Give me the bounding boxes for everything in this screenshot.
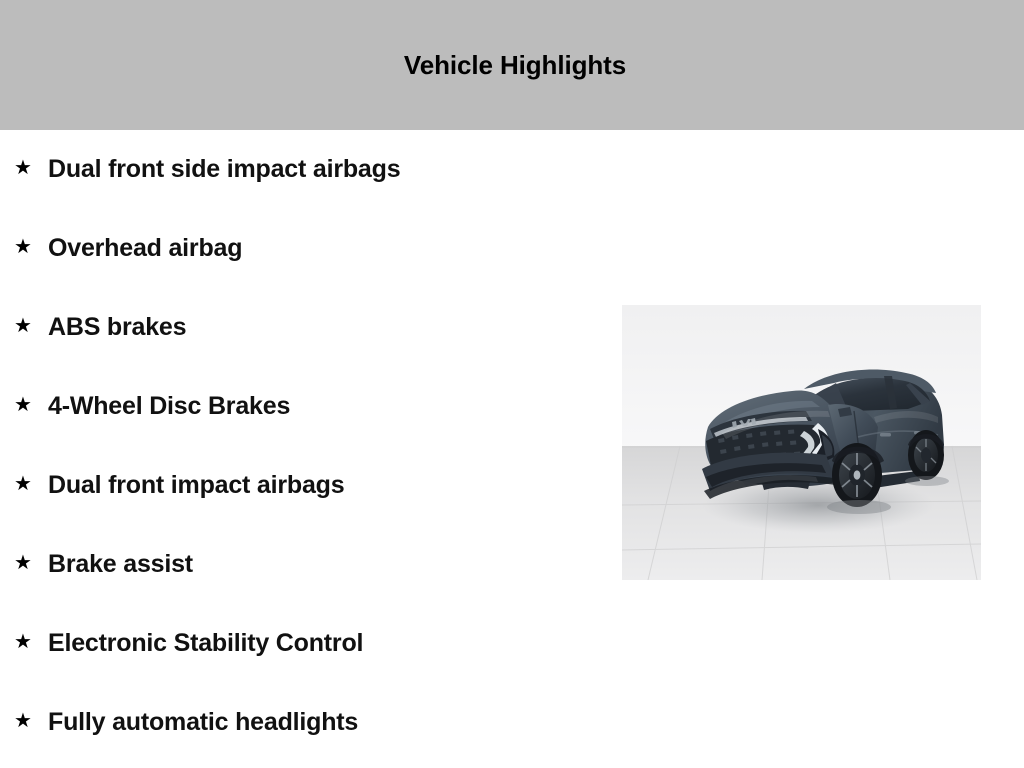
star-bullet-icon: ★ [14,553,48,573]
page-header: Vehicle Highlights [0,0,1024,130]
vehicle-highlights-page: Vehicle Highlights ★ Dual front side imp… [0,0,1024,768]
star-bullet-icon: ★ [14,632,48,652]
highlight-label: Dual front impact airbags [48,471,620,500]
highlight-label: Electronic Stability Control [48,629,620,658]
list-item: ★ 4-Wheel Disc Brakes [0,367,620,446]
star-bullet-icon: ★ [14,316,48,336]
highlight-label: Overhead airbag [48,234,620,263]
list-item: ★ Electronic Stability Control [0,604,620,683]
list-item: ★ Fully automatic headlights [0,683,620,762]
star-bullet-icon: ★ [14,237,48,257]
star-bullet-icon: ★ [14,158,48,178]
list-item: ★ Dual front impact airbags [0,446,620,525]
vehicle-photo [622,305,981,580]
vehicle-highlights-list: ★ Dual front side impact airbags ★ Overh… [0,130,620,762]
vehicle-photo-image [622,305,981,580]
star-bullet-icon: ★ [14,395,48,415]
highlight-label: Fully automatic headlights [48,708,620,737]
highlight-label: Brake assist [48,550,620,579]
list-item: ★ Brake assist [0,525,620,604]
list-item: ★ Overhead airbag [0,209,620,288]
list-item: ★ ABS brakes [0,288,620,367]
highlight-label: ABS brakes [48,313,620,342]
highlight-label: 4-Wheel Disc Brakes [48,392,620,421]
star-bullet-icon: ★ [14,474,48,494]
page-title: Vehicle Highlights [0,50,1024,80]
highlight-label: Dual front side impact airbags [48,155,620,184]
list-item: ★ Dual front side impact airbags [0,130,620,209]
star-bullet-icon: ★ [14,711,48,731]
